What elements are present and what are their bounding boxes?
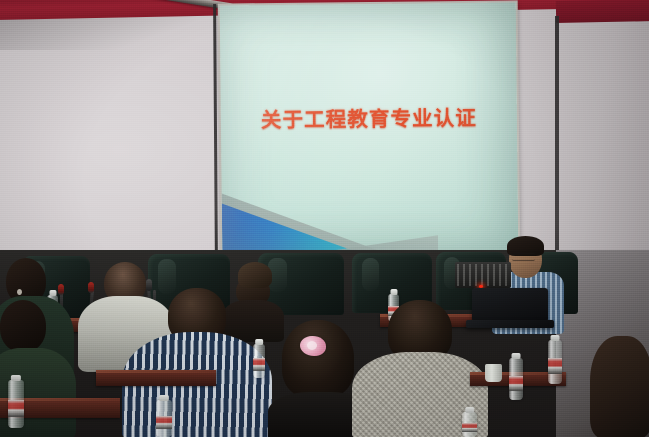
slide-title: 关于工程教育专业认证 <box>221 100 517 133</box>
projection-screen-frame: 关于工程教育专业认证 <box>218 0 521 255</box>
water-bottle <box>156 400 172 437</box>
audience-head <box>590 336 649 437</box>
laptop-base[interactable] <box>466 320 554 328</box>
water-bottle <box>509 358 523 400</box>
bottle-label <box>253 358 265 370</box>
equipment-grid <box>457 264 509 286</box>
laptop-computer[interactable] <box>472 288 548 322</box>
water-bottle <box>548 340 562 384</box>
bottle-cap <box>465 407 475 413</box>
bottle-label <box>509 376 523 391</box>
flower-hair-clip <box>300 336 326 356</box>
wooden-desk <box>96 370 216 386</box>
audience-head <box>238 262 272 288</box>
earring-icon <box>17 289 22 295</box>
bottle-label <box>548 358 562 374</box>
water-bottle <box>253 344 265 378</box>
bottle-cap <box>255 339 263 345</box>
bottle-cap <box>159 395 169 401</box>
bottle-cap <box>11 375 21 381</box>
bottle-cap <box>512 353 521 359</box>
microphone-head-icon <box>58 284 64 295</box>
bottle-cap <box>390 289 397 295</box>
chair-highlight <box>362 258 380 291</box>
paper-cup <box>485 364 502 382</box>
microphone-head-icon <box>146 279 152 291</box>
audio-equipment-rack[interactable] <box>455 262 511 288</box>
wall-seam-right <box>555 16 559 276</box>
bottle-cap <box>49 290 56 296</box>
conference-photo: 关于工程教育专业认证 <box>0 0 649 437</box>
bottle-label <box>156 416 172 429</box>
projection-screen: 关于工程教育专业认证 <box>220 2 519 253</box>
water-bottle <box>8 380 24 428</box>
chair-highlight <box>158 259 176 294</box>
water-bottle <box>462 412 477 437</box>
bottle-label <box>8 400 24 417</box>
audience-head <box>282 320 354 398</box>
audience-head <box>0 300 46 352</box>
bottle-cap <box>551 335 560 341</box>
desk-edge-highlight <box>96 370 216 373</box>
glasses-icon <box>512 253 535 261</box>
bottle-label <box>462 423 477 432</box>
red-banner-right-segment <box>556 0 649 23</box>
microphone-head-icon <box>88 282 94 293</box>
